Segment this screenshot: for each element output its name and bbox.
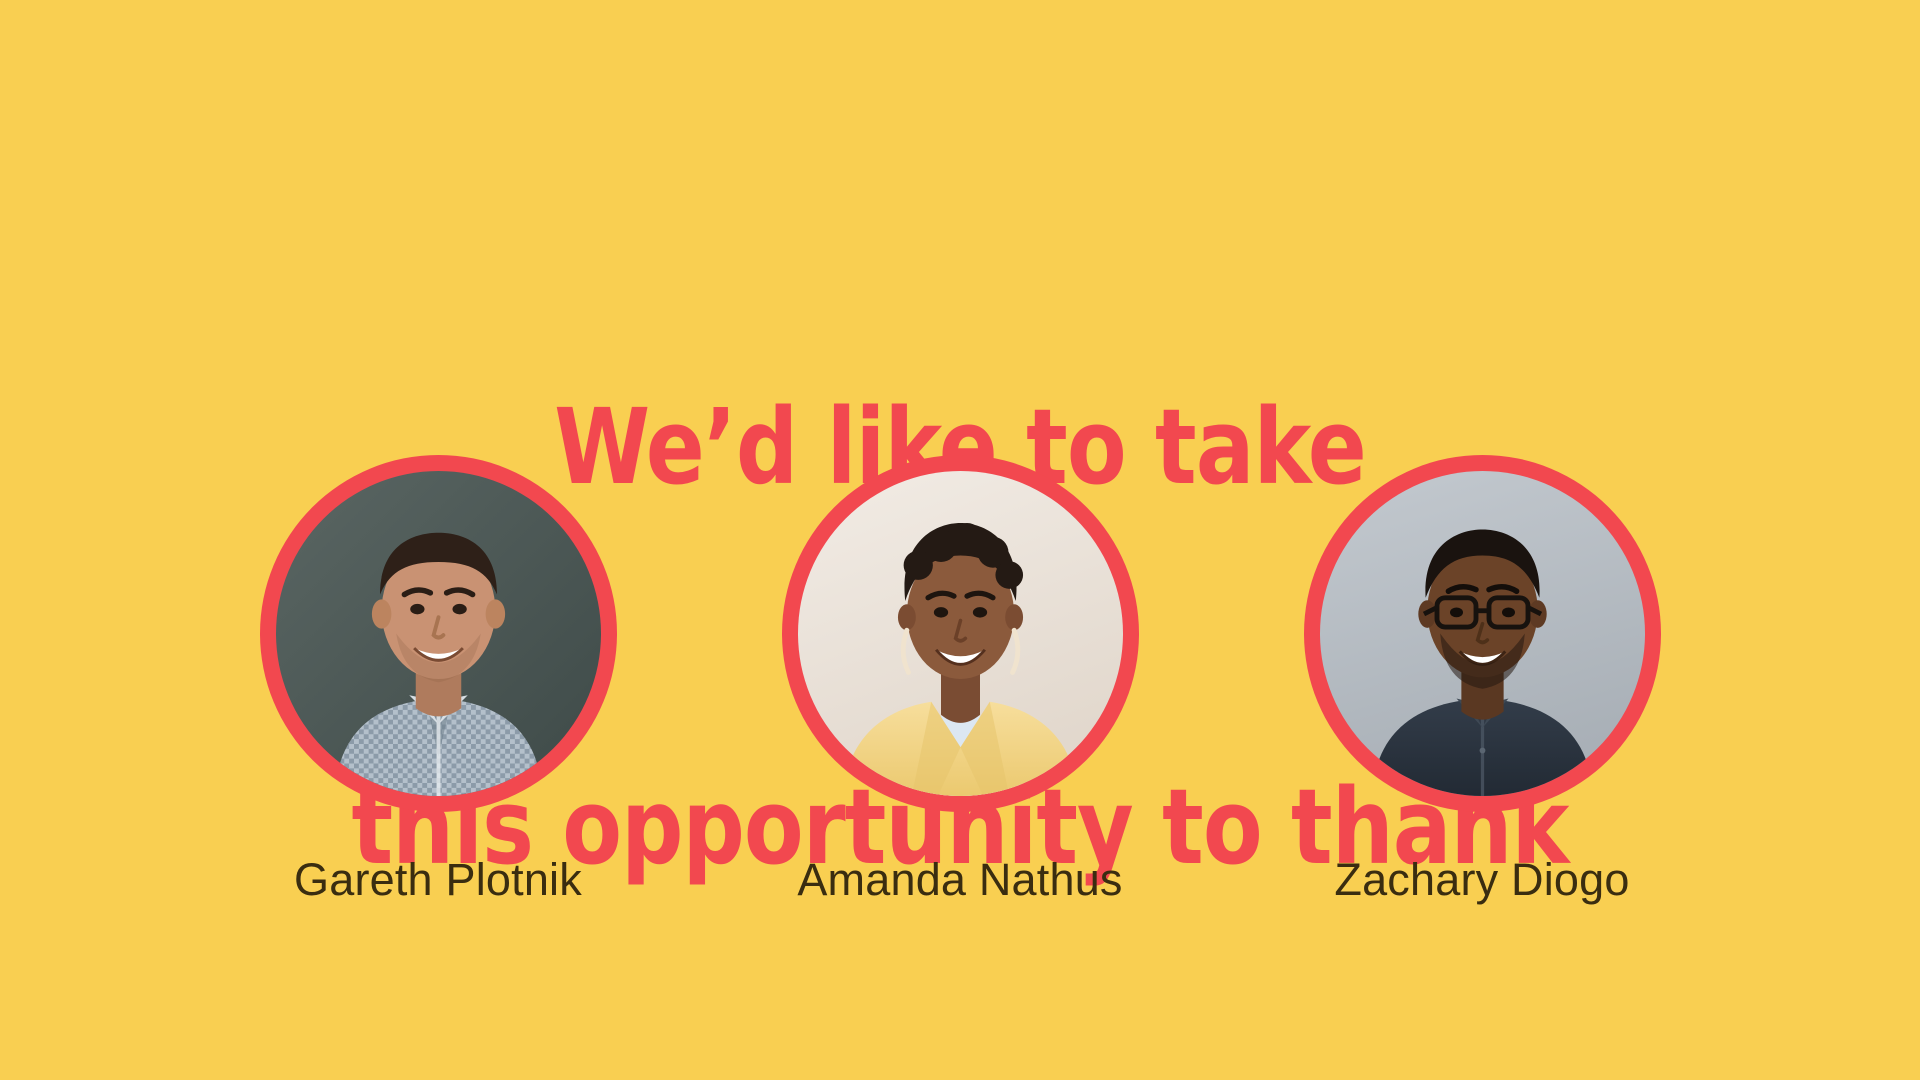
portrait-gareth-icon	[276, 471, 601, 796]
people-list: Gareth Plotnik	[0, 455, 1920, 906]
avatar	[276, 471, 601, 796]
avatar-ring-zachary	[1304, 455, 1661, 812]
portrait-zachary-icon	[1320, 471, 1645, 796]
person-name: Amanda Nathus	[797, 854, 1122, 906]
person-name: Zachary Diogo	[1334, 854, 1629, 906]
avatar-ring-amanda	[782, 455, 1139, 812]
list-item: Gareth Plotnik	[258, 455, 618, 906]
avatar	[798, 471, 1123, 796]
list-item: Zachary Diogo	[1302, 455, 1662, 906]
list-item: Amanda Nathus	[780, 455, 1140, 906]
portrait-amanda-icon	[798, 471, 1123, 796]
slide-canvas: We’d like to take this opportunity to th…	[0, 0, 1920, 1080]
avatar	[1320, 471, 1645, 796]
avatar-ring-gareth	[260, 455, 617, 812]
person-name: Gareth Plotnik	[294, 854, 582, 906]
